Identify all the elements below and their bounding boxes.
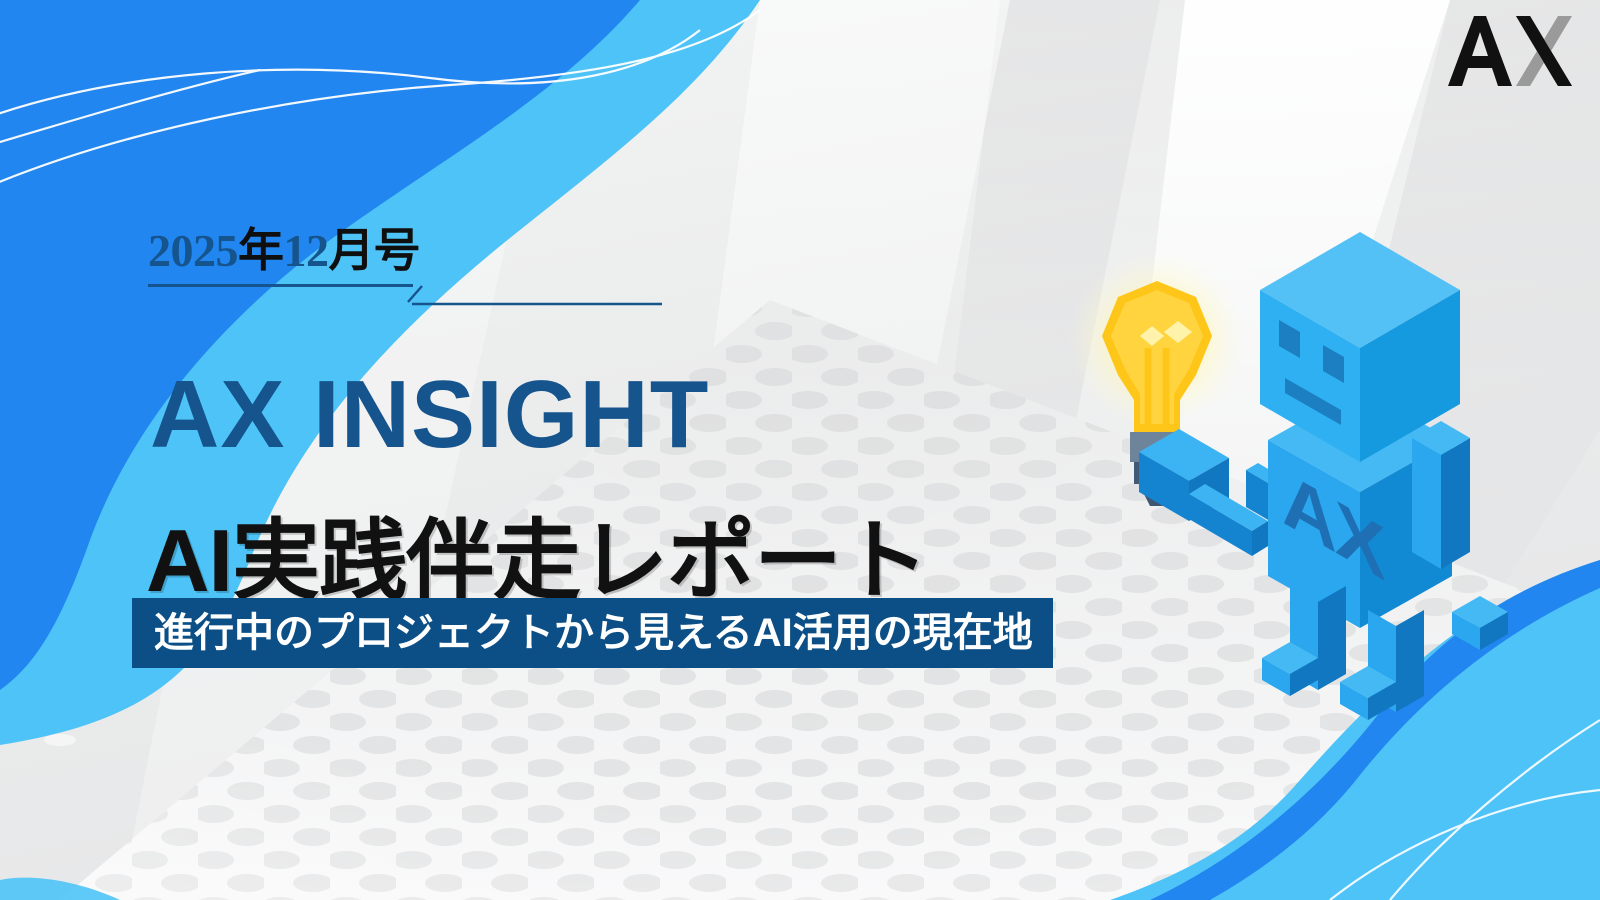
page-title: AX INSIGHT <box>150 367 709 463</box>
tagline-banner: 進行中のプロジェクトから見えるAI活用の現在地 <box>132 598 1053 668</box>
ax-logo[interactable] <box>1444 14 1574 88</box>
logo-letter-a <box>1448 16 1512 86</box>
robot-left-leg <box>1262 586 1346 706</box>
issue-month: 12 <box>284 225 329 276</box>
issue-date-tick-mark <box>406 284 428 306</box>
robot-right-leg <box>1340 610 1424 720</box>
page-subtitle: AI実践伴走レポート <box>146 513 928 608</box>
decor-cube <box>1452 596 1508 650</box>
issue-year: 2025 <box>148 225 238 276</box>
logo-letter-x <box>1516 16 1572 86</box>
tagline-banner-text: 進行中のプロジェクトから見えるAI活用の現在地 <box>154 613 1033 653</box>
issue-date: 2025年12月号 <box>148 228 708 274</box>
issue-year-suffix: 年 <box>238 225 284 276</box>
key-visual-canvas: AX <box>0 0 1600 900</box>
issue-date-underline <box>148 284 413 287</box>
issue-month-suffix: 月号 <box>329 225 420 276</box>
robot-right-arm <box>1412 421 1470 569</box>
issue-date-text: 2025年12月号 <box>148 228 708 274</box>
